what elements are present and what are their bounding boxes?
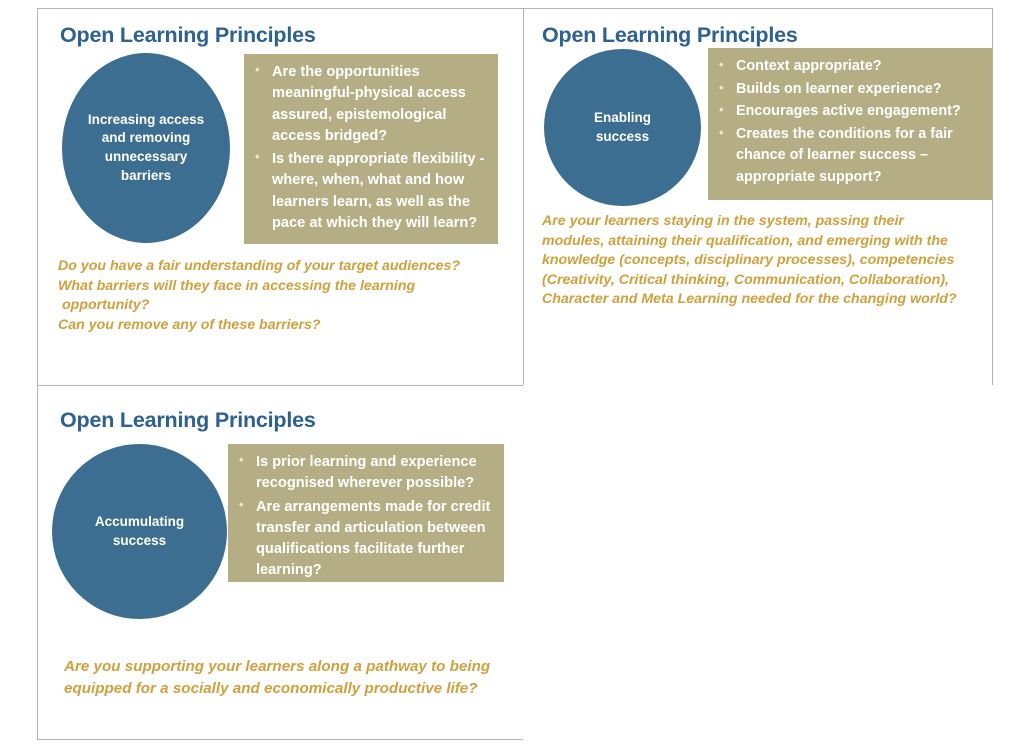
list-item: Builds on learner experience? [716,79,990,101]
circle-label-line: Accumulating [95,513,184,532]
panel-increasing-access: Open Learning Principles Increasing acce… [37,8,524,386]
prompt-line: Can you remove any of these barriers? [58,316,508,336]
page-title: Open Learning Principles [60,23,316,48]
page-title: Open Learning Principles [542,23,798,48]
bullet-box-increasing-access: Are the opportunities meaningful-physica… [244,54,498,244]
principle-circle-increasing-access: Increasing access and removing unnecessa… [62,53,230,243]
slide-grid: Open Learning Principles Increasing acce… [37,8,993,740]
panel-accumulating-success: Open Learning Principles Accumulating su… [37,385,524,740]
bullet-box-accumulating-success: Is prior learning and experience recogni… [228,444,504,582]
prompt-text-accumulating-success: Are you supporting your learners along a… [64,656,514,700]
prompt-line: opportunity? [58,296,508,316]
list-item: Are arrangements made for credit transfe… [236,497,494,582]
prompt-line: What barriers will they face in accessin… [58,277,508,297]
principle-circle-enabling-success: Enabling success [544,49,701,206]
list-item: Is there appropriate flexibility - where… [252,149,488,234]
page-title: Open Learning Principles [60,408,316,433]
principle-circle-accumulating-success: Accumulating success [52,444,227,619]
list-item: Creates the conditions for a fair chance… [716,124,990,189]
list-item: Encourages active engagement? [716,101,990,123]
circle-label-line: unnecessary [88,148,204,167]
prompt-text-enabling-success: Are your learners staying in the system,… [542,212,962,310]
prompt-line: Are your learners staying in the system,… [542,212,962,310]
prompt-line: Do you have a fair understanding of your… [58,257,508,277]
circle-label-line: Enabling [594,109,651,128]
panel-empty [523,385,993,740]
bullet-box-enabling-success: Context appropriate? Builds on learner e… [708,48,993,200]
list-item: Context appropriate? [716,56,990,78]
list-item: Are the opportunities meaningful-physica… [252,62,488,147]
circle-label-line: success [594,128,651,147]
circle-label-line: and removing [88,129,204,148]
circle-label-line: barriers [88,167,204,186]
circle-label-line: Increasing access [88,111,204,130]
panel-enabling-success: Open Learning Principles Enabling succes… [523,8,993,386]
prompt-line: Are you supporting your learners along a… [64,656,514,700]
list-item: Is prior learning and experience recogni… [236,452,494,495]
prompt-text-increasing-access: Do you have a fair understanding of your… [58,257,508,335]
circle-label-line: success [95,532,184,551]
